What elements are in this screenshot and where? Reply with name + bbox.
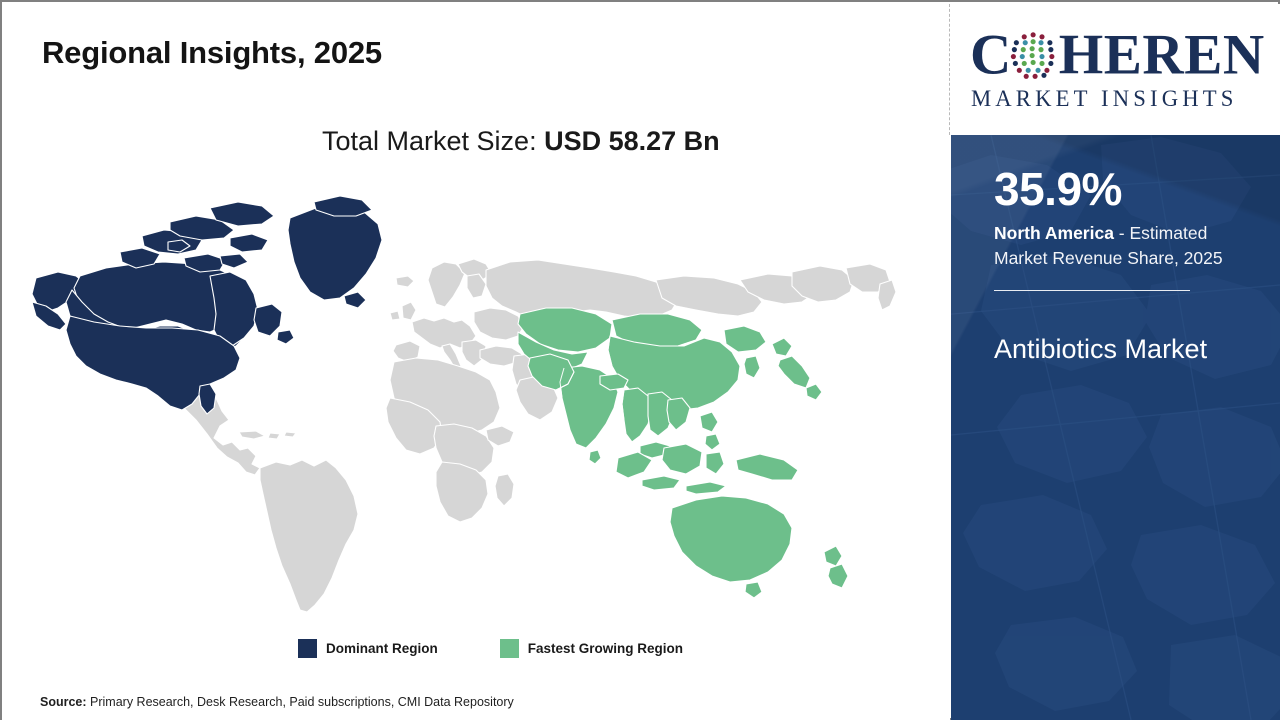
world-map-svg xyxy=(24,180,929,615)
source-note: Source: Primary Research, Desk Research,… xyxy=(40,695,514,709)
legend-label-dominant: Dominant Region xyxy=(326,641,438,656)
legend-item-dominant: Dominant Region xyxy=(298,639,438,658)
logo-letter-c: C xyxy=(970,23,1012,86)
map-region-dominant xyxy=(32,196,382,414)
stat-value: 35.9% xyxy=(994,166,1240,212)
brand-logo: C HERENT MARKET INSIGHTS xyxy=(952,4,1280,135)
market-size-value: USD 58.27 Bn xyxy=(544,126,720,156)
source-text: Primary Research, Desk Research, Paid su… xyxy=(87,695,514,709)
logo-tagline: MARKET INSIGHTS xyxy=(971,86,1238,111)
logo-word-herent: HERENT xyxy=(1059,23,1264,86)
stat-region: North America xyxy=(994,223,1114,243)
panel-divider-rule xyxy=(994,290,1190,291)
slide-frame: Regional Insights, 2025 Total Market Siz… xyxy=(0,0,1280,720)
legend-label-fastest-growing: Fastest Growing Region xyxy=(528,641,683,656)
coherent-market-insights-logo: C HERENT MARKET INSIGHTS xyxy=(968,22,1264,117)
page-title: Regional Insights, 2025 xyxy=(42,35,382,71)
panel-content: 35.9% North America - Estimated Market R… xyxy=(951,135,1280,371)
legend-item-fastest-growing: Fastest Growing Region xyxy=(500,639,683,658)
source-label: Source: xyxy=(40,695,87,709)
market-size-label: Total Market Size: xyxy=(322,126,544,156)
legend-swatch-fastest-growing xyxy=(500,639,519,658)
map-legend: Dominant Region Fastest Growing Region xyxy=(298,639,683,658)
globe-icon xyxy=(1011,32,1055,79)
stat-panel: 35.9% North America - Estimated Market R… xyxy=(951,135,1280,720)
world-map xyxy=(24,180,929,615)
map-region-fastest-growing xyxy=(518,308,848,598)
total-market-size: Total Market Size: USD 58.27 Bn xyxy=(322,126,720,157)
vertical-divider xyxy=(949,4,950,135)
stat-description: North America - Estimated Market Revenue… xyxy=(994,221,1240,271)
market-name: Antibiotics Market xyxy=(994,329,1240,371)
legend-swatch-dominant xyxy=(298,639,317,658)
left-content-pane: Regional Insights, 2025 Total Market Siz… xyxy=(2,2,950,722)
